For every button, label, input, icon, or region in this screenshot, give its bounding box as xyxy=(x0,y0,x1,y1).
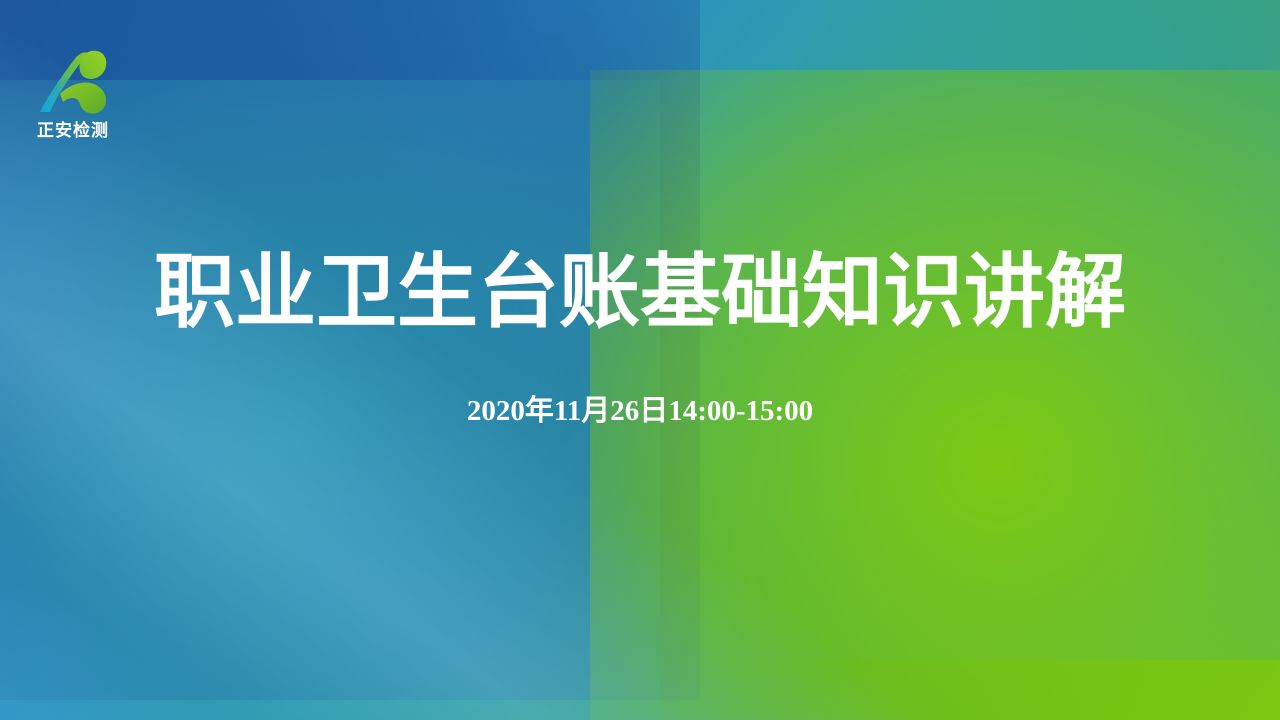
company-logo-text: 正安检测 xyxy=(8,122,138,141)
title-block: 职业卫生台账基础知识讲解 2020年11月26日14:00-15:00 xyxy=(0,248,1280,429)
zhengan-lambda-logo-icon xyxy=(30,44,116,118)
slide-subtitle-datetime: 2020年11月26日14:00-15:00 xyxy=(0,387,1280,429)
company-logo: 正安检测 xyxy=(8,44,138,141)
presentation-title-slide: 正安检测 职业卫生台账基础知识讲解 2020年11月26日14:00-15:00 xyxy=(0,0,1280,720)
slide-title: 职业卫生台账基础知识讲解 xyxy=(0,248,1280,339)
